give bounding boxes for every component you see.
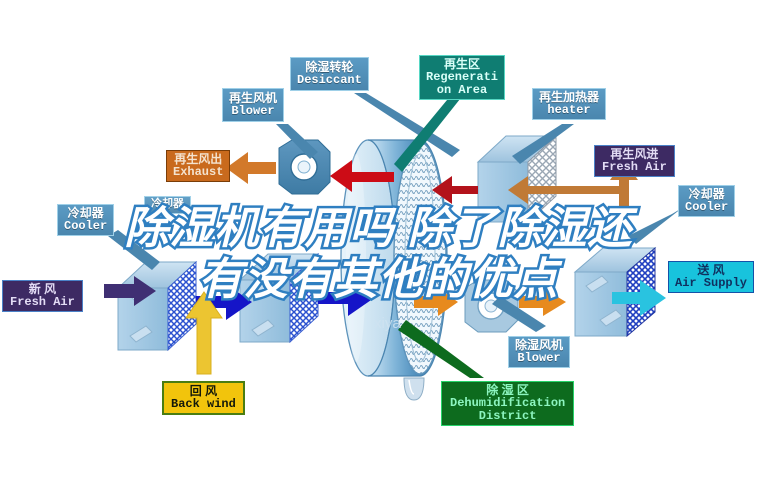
label-regen-heater-en: heater <box>539 104 599 117</box>
diagram-canvas: xiya 除湿转轮 Desiccant 再生风机 Blower 再生风出 Exh… <box>0 0 757 488</box>
label-regen-area-en2: on Area <box>426 84 498 97</box>
label-regen-blower[interactable]: 再生风机 Blower <box>222 88 284 122</box>
label-dehumid-blower-cn: 除湿风机 <box>515 339 563 352</box>
label-regen-fresh-air-cn: 再生风进 <box>602 148 667 161</box>
label-regen-blower-cn: 再生风机 <box>229 92 277 105</box>
label-regen-heater-cn: 再生加热器 <box>539 91 599 104</box>
label-desiccant-cn: 除湿转轮 <box>297 61 362 74</box>
label-regen-area-en1: Regenerati <box>426 71 498 84</box>
label-desiccant[interactable]: 除湿转轮 Desiccant <box>290 57 369 91</box>
label-regen-area[interactable]: 再生区 Regenerati on Area <box>419 55 505 100</box>
label-desiccant-en: Desiccant <box>297 74 362 87</box>
label-dehumid-area-en2: District <box>450 410 565 423</box>
label-dehumid-blower[interactable]: 除湿风机 Blower <box>508 336 570 368</box>
label-cooler-right-cn: 冷却器 <box>685 188 728 201</box>
label-regen-heater[interactable]: 再生加热器 heater <box>532 88 606 120</box>
label-dehumid-area[interactable]: 除 湿 区 Dehumidification District <box>441 381 574 426</box>
label-exhaust[interactable]: 再生风出 Exhaust <box>166 150 230 182</box>
condensate-drain <box>404 378 424 400</box>
flow-exhaust-out <box>226 152 276 184</box>
label-regen-blower-en: Blower <box>229 105 277 118</box>
headline-line-2: 有没有其他的优点 <box>0 253 757 306</box>
label-dehumid-area-en1: Dehumidification <box>450 397 565 410</box>
label-dehumid-area-cn: 除 湿 区 <box>450 384 565 397</box>
headline-overlay: 除湿机有用吗 除了除湿还 有没有其他的优点 <box>0 202 757 306</box>
label-back-wind-cn: 回 风 <box>171 385 236 398</box>
label-back-wind[interactable]: 回 风 Back wind <box>162 381 245 415</box>
watermark: xiya <box>374 315 401 332</box>
label-regen-fresh-air-en: Fresh Air <box>602 161 667 174</box>
label-back-wind-en: Back wind <box>171 398 236 411</box>
label-exhaust-cn: 再生风出 <box>173 153 223 166</box>
label-exhaust-en: Exhaust <box>173 166 223 179</box>
headline-line-1: 除湿机有用吗 除了除湿还 <box>0 202 757 255</box>
label-regen-fresh-air[interactable]: 再生风进 Fresh Air <box>594 145 675 177</box>
flow-regen-air-left <box>508 176 620 204</box>
label-regen-area-cn: 再生区 <box>426 58 498 71</box>
label-dehumid-blower-en: Blower <box>515 352 563 365</box>
